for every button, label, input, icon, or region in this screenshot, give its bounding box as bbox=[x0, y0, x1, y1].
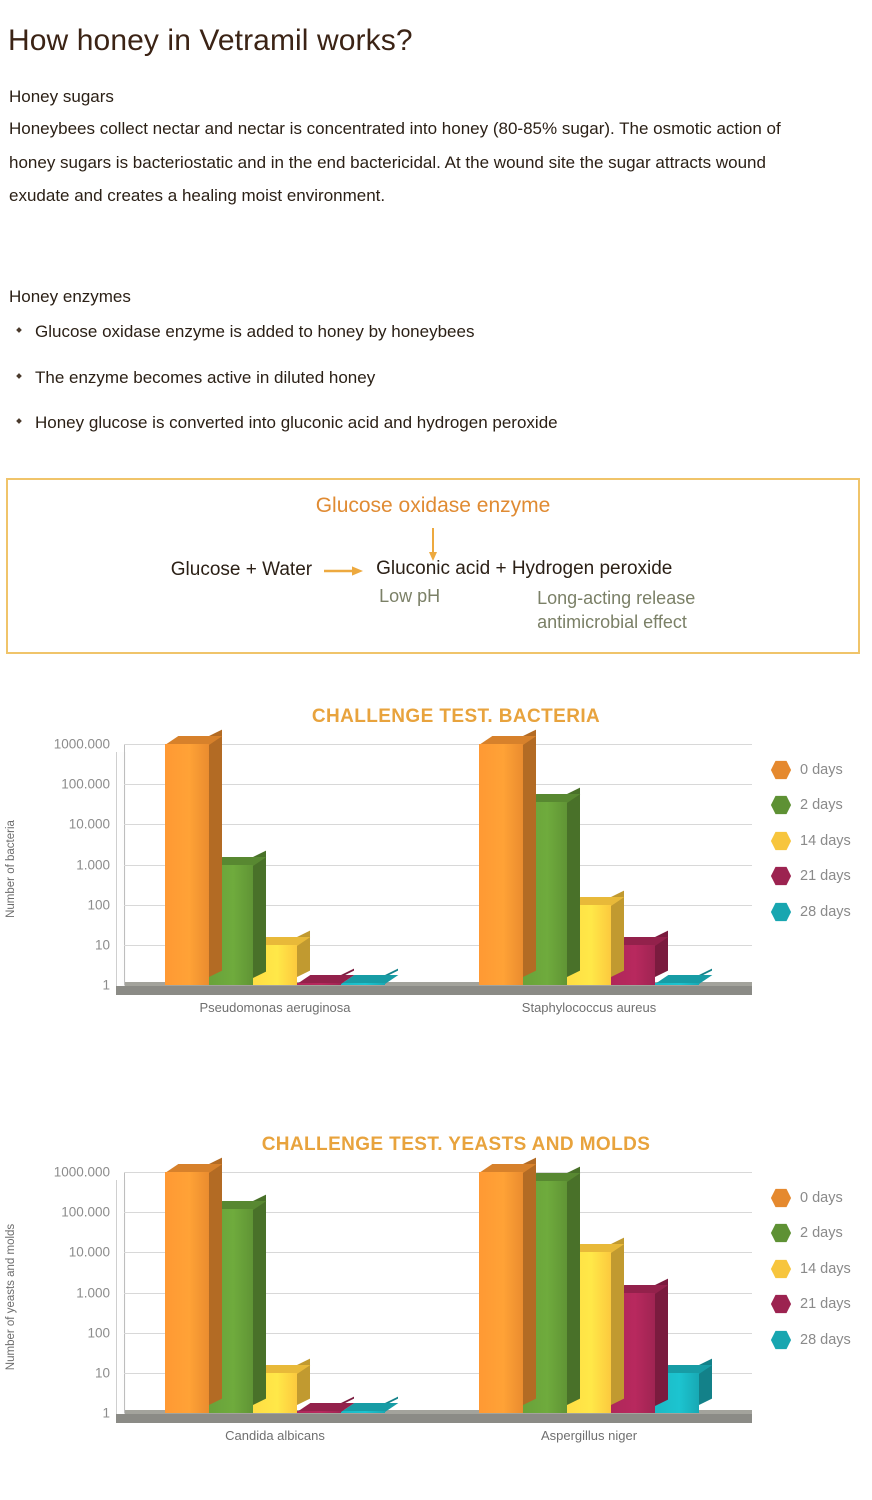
bar-side-face bbox=[655, 1278, 668, 1405]
plot-canvas bbox=[116, 744, 752, 994]
section-honey-enzymes: Honey enzymes Glucose oxidase enzyme is … bbox=[9, 284, 809, 454]
y-tick-label: 1000.000 bbox=[54, 1165, 110, 1180]
page-root: How honey in Vetramil works? Honey sugar… bbox=[0, 0, 872, 1500]
list-item-label: Glucose oxidase enzyme is added to honey… bbox=[35, 322, 474, 341]
bar bbox=[655, 983, 699, 985]
legend-item[interactable]: 2 days bbox=[770, 788, 870, 824]
bar-side-face bbox=[209, 1158, 222, 1405]
x-axis-category-labels: Candida albicansAspergillus niger bbox=[116, 1428, 752, 1454]
legend-label: 0 days bbox=[800, 1190, 843, 1206]
reaction-notes: Low pH Long-acting release antimicrobial… bbox=[376, 586, 695, 635]
bar bbox=[341, 1411, 385, 1413]
bullet-diamond-icon bbox=[16, 373, 22, 379]
legend-item[interactable]: 0 days bbox=[770, 1180, 870, 1216]
y-tick-label: 100 bbox=[87, 1325, 110, 1340]
chart-legend: 0 days2 days14 days21 days28 days bbox=[770, 1180, 870, 1358]
legend-hexagon-icon bbox=[770, 1293, 792, 1315]
page-title: How honey in Vetramil works? bbox=[8, 24, 413, 58]
x-axis-category-labels: Pseudomonas aeruginosaStaphylococcus aur… bbox=[116, 1000, 752, 1026]
bar-side-face bbox=[209, 730, 222, 977]
legend-item[interactable]: 14 days bbox=[770, 823, 870, 859]
x-category-label: Pseudomonas aeruginosa bbox=[199, 1000, 350, 1015]
arrow-down-icon bbox=[428, 528, 438, 562]
arrow-right-icon bbox=[324, 558, 364, 578]
legend-hexagon-icon bbox=[770, 1187, 792, 1209]
x-category-label: Candida albicans bbox=[225, 1428, 325, 1443]
floor-shadow bbox=[116, 1414, 752, 1423]
bar-side-face bbox=[253, 850, 266, 977]
legend-label: 21 days bbox=[800, 868, 851, 884]
honey-sugars-paragraph: Honeybees collect nectar and nectar is c… bbox=[9, 112, 804, 212]
legend-hexagon-icon bbox=[770, 1329, 792, 1351]
reaction-note-line-1: Long-acting release bbox=[537, 586, 695, 610]
bar-front-face bbox=[479, 1172, 523, 1413]
legend-label: 28 days bbox=[800, 904, 851, 920]
bar-side-face bbox=[253, 1195, 266, 1405]
bar bbox=[479, 744, 523, 985]
bar-front-face bbox=[479, 744, 523, 985]
legend-item[interactable]: 21 days bbox=[770, 859, 870, 895]
bar bbox=[165, 1172, 209, 1413]
bar-group bbox=[479, 744, 699, 985]
chart-plot-area: Number of yeasts and molds 1000.000100.0… bbox=[0, 1172, 872, 1462]
list-item-label: The enzyme becomes active in diluted hon… bbox=[35, 368, 375, 387]
bullet-diamond-icon bbox=[16, 328, 22, 334]
list-item: Glucose oxidase enzyme is added to honey… bbox=[9, 318, 809, 345]
bar-front-face bbox=[341, 983, 385, 985]
legend-label: 21 days bbox=[800, 1296, 851, 1312]
bar-series-container bbox=[124, 744, 752, 985]
legend-hexagon-icon bbox=[770, 830, 792, 852]
bar-side-face bbox=[523, 730, 536, 977]
list-item-label: Honey glucose is converted into gluconic… bbox=[35, 413, 558, 432]
y-tick-label: 1000.000 bbox=[54, 737, 110, 752]
legend-label: 14 days bbox=[800, 833, 851, 849]
bar bbox=[297, 1411, 341, 1413]
reaction-diagram: Glucose oxidase enzyme Glucose + Water G… bbox=[6, 478, 860, 654]
reaction-note-low-ph: Low pH bbox=[376, 586, 537, 635]
honey-sugars-heading: Honey sugars bbox=[9, 84, 809, 110]
bar-front-face bbox=[165, 1172, 209, 1413]
legend-hexagon-icon bbox=[770, 794, 792, 816]
bar-side-face bbox=[611, 1238, 624, 1405]
bar bbox=[341, 983, 385, 985]
legend-label: 0 days bbox=[800, 762, 843, 778]
y-tick-label: 100.000 bbox=[61, 777, 110, 792]
y-tick-label: 1.000 bbox=[76, 857, 110, 872]
legend-hexagon-icon bbox=[770, 865, 792, 887]
y-tick-label: 10 bbox=[95, 1365, 110, 1380]
y-tick-label: 100.000 bbox=[61, 1205, 110, 1220]
bar bbox=[297, 983, 341, 985]
y-tick-label: 100 bbox=[87, 897, 110, 912]
bar bbox=[165, 744, 209, 985]
bar-side-face bbox=[523, 1158, 536, 1405]
bar-group bbox=[165, 1172, 385, 1413]
legend-label: 2 days bbox=[800, 1225, 843, 1241]
legend-label: 28 days bbox=[800, 1332, 851, 1348]
bar-side-face bbox=[567, 788, 580, 977]
bar-front-face bbox=[655, 983, 699, 985]
legend-item[interactable]: 2 days bbox=[770, 1216, 870, 1252]
legend-hexagon-icon bbox=[770, 1222, 792, 1244]
legend-label: 2 days bbox=[800, 797, 843, 813]
y-tick-label: 1 bbox=[102, 978, 110, 993]
reaction-products: Gluconic acid + Hydrogen peroxide bbox=[376, 558, 695, 580]
bar-side-face bbox=[567, 1167, 580, 1405]
list-item: Honey glucose is converted into gluconic… bbox=[9, 409, 809, 436]
bullet-diamond-icon bbox=[16, 418, 22, 424]
legend-label: 14 days bbox=[800, 1261, 851, 1277]
x-category-label: Aspergillus niger bbox=[541, 1428, 637, 1443]
section-honey-sugars: Honey sugars Honeybees collect nectar an… bbox=[9, 84, 809, 212]
bar-series-container bbox=[124, 1172, 752, 1413]
floor-shadow bbox=[116, 986, 752, 995]
reaction-products-group: Gluconic acid + Hydrogen peroxide Low pH… bbox=[376, 558, 695, 635]
bar-front-face bbox=[297, 983, 341, 985]
bar-front-face bbox=[297, 1411, 341, 1413]
chart-title: CHALLENGE TEST. YEASTS AND MOLDS bbox=[0, 1134, 872, 1156]
legend-item[interactable]: 14 days bbox=[770, 1251, 870, 1287]
bar bbox=[479, 1172, 523, 1413]
bar-group bbox=[479, 1172, 699, 1413]
x-category-label: Staphylococcus aureus bbox=[522, 1000, 656, 1015]
legend-item[interactable]: 28 days bbox=[770, 894, 870, 930]
y-tick-label: 10 bbox=[95, 937, 110, 952]
legend-item[interactable]: 0 days bbox=[770, 752, 870, 788]
reaction-enzyme-label: Glucose oxidase enzyme bbox=[8, 494, 858, 518]
legend-hexagon-icon bbox=[770, 1258, 792, 1280]
reaction-equation-row: Glucose + Water Gluconic acid + Hydrogen… bbox=[8, 558, 858, 635]
legend-hexagon-icon bbox=[770, 759, 792, 781]
y-axis-tick-labels: 1000.000100.00010.0001.000100101 bbox=[18, 1172, 114, 1422]
honey-enzymes-list: Glucose oxidase enzyme is added to honey… bbox=[9, 318, 809, 436]
y-tick-label: 1.000 bbox=[76, 1285, 110, 1300]
y-tick-label: 10.000 bbox=[69, 817, 110, 832]
bar-group bbox=[165, 744, 385, 985]
chart-plot-area: Number of bacteria 1000.000100.00010.000… bbox=[0, 744, 872, 1034]
bar-front-face bbox=[165, 744, 209, 985]
legend-item[interactable]: 28 days bbox=[770, 1322, 870, 1358]
reaction-note-long-acting: Long-acting release antimicrobial effect bbox=[537, 586, 695, 635]
reaction-note-line-2: antimicrobial effect bbox=[537, 610, 695, 634]
bar-front-face bbox=[341, 1411, 385, 1413]
y-tick-label: 10.000 bbox=[69, 1245, 110, 1260]
reaction-reactants: Glucose + Water bbox=[171, 558, 312, 581]
y-axis-tick-labels: 1000.000100.00010.0001.000100101 bbox=[18, 744, 114, 994]
legend-item[interactable]: 21 days bbox=[770, 1287, 870, 1323]
chart-yeasts-molds: CHALLENGE TEST. YEASTS AND MOLDS Number … bbox=[0, 1134, 872, 1462]
plot-canvas bbox=[116, 1172, 752, 1422]
list-item: The enzyme becomes active in diluted hon… bbox=[9, 364, 809, 391]
legend-hexagon-icon bbox=[770, 901, 792, 923]
chart-bacteria: CHALLENGE TEST. BACTERIA Number of bacte… bbox=[0, 706, 872, 1034]
chart-title: CHALLENGE TEST. BACTERIA bbox=[0, 706, 872, 728]
honey-enzymes-heading: Honey enzymes bbox=[9, 284, 809, 310]
chart-legend: 0 days2 days14 days21 days28 days bbox=[770, 752, 870, 930]
y-tick-label: 1 bbox=[102, 1406, 110, 1421]
